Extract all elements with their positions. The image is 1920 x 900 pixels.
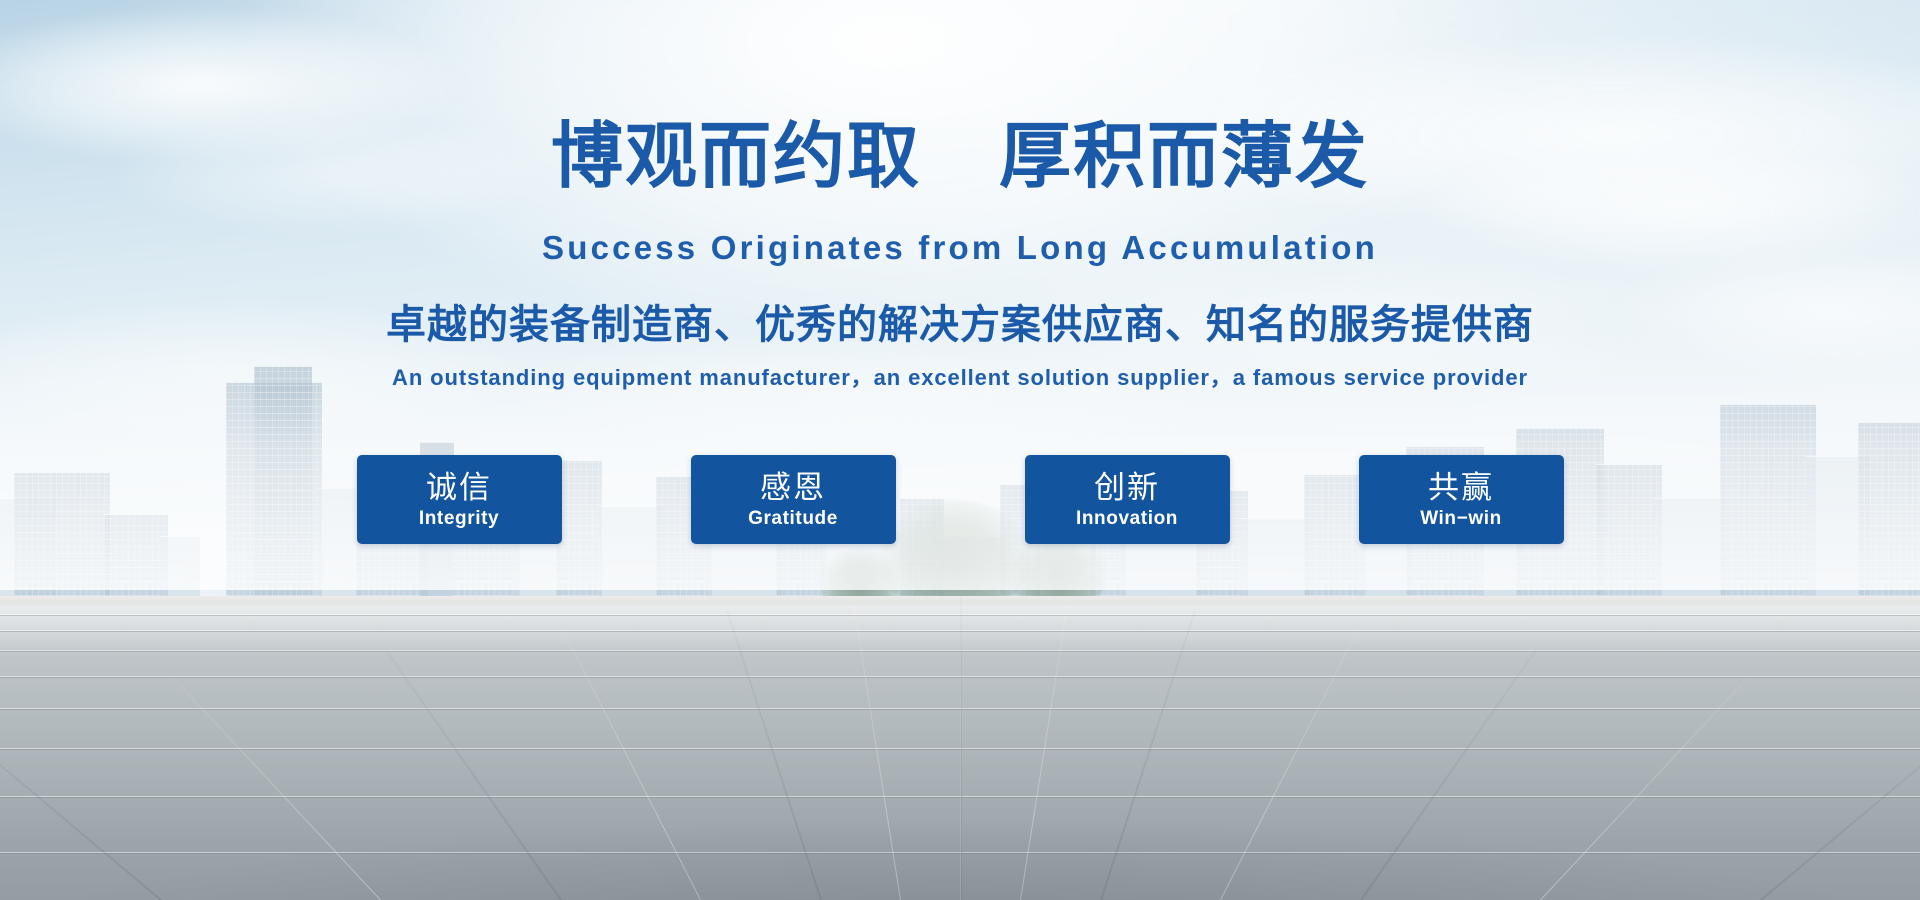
banner-content: 博观而约取 厚积而薄发 Success Originates from Long…: [0, 0, 1920, 900]
headline-english: Success Originates from Long Accumulatio…: [0, 228, 1920, 268]
value-card-label-cn: 诚信: [426, 470, 492, 506]
headline-chinese: 博观而约取 厚积而薄发: [0, 118, 1920, 196]
value-card-label-en: Gratitude: [748, 507, 838, 531]
value-card-integrity[interactable]: 诚信 Integrity: [357, 455, 562, 544]
value-card-label-en: Win−win: [1420, 507, 1502, 531]
headline-chinese-part1: 博观而约取: [551, 117, 921, 197]
value-card-label-cn: 共赢: [1428, 470, 1494, 506]
headline-chinese-part2: 厚积而薄发: [999, 117, 1369, 197]
value-card-gratitude[interactable]: 感恩 Gratitude: [691, 455, 896, 544]
value-card-label-cn: 创新: [1094, 470, 1160, 506]
value-card-label-en: Integrity: [419, 507, 499, 531]
value-card-winwin[interactable]: 共赢 Win−win: [1359, 455, 1564, 544]
value-card-label-en: Innovation: [1076, 507, 1178, 531]
tagline-english: An outstanding equipment manufacturer，an…: [0, 363, 1920, 393]
value-card-innovation[interactable]: 创新 Innovation: [1025, 455, 1230, 544]
value-card-label-cn: 感恩: [760, 470, 826, 506]
hero-banner: 博观而约取 厚积而薄发 Success Originates from Long…: [0, 0, 1920, 900]
tagline-chinese: 卓越的装备制造商、优秀的解决方案供应商、知名的服务提供商: [0, 300, 1920, 350]
core-values-list: 诚信 Integrity 感恩 Gratitude 创新 Innovation …: [0, 455, 1920, 544]
